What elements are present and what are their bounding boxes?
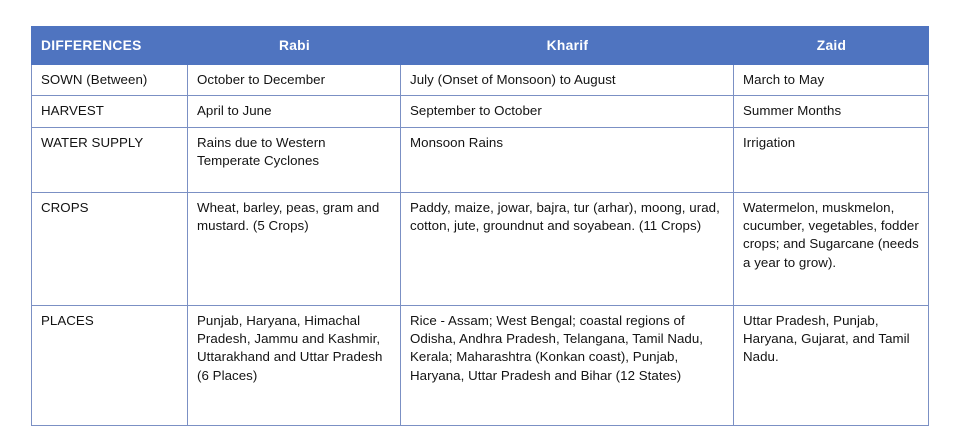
crop-comparison-table: DIFFERENCES Rabi Kharif Zaid SOWN (Betwe… bbox=[31, 26, 929, 426]
cell-text: September to October bbox=[410, 102, 725, 120]
table-header: DIFFERENCES Rabi Kharif Zaid bbox=[32, 27, 929, 65]
table-row-crops: CROPS Wheat, barley, peas, gram and must… bbox=[32, 192, 929, 305]
cell-text: HARVEST bbox=[41, 102, 179, 120]
cell-places-rabi: Punjab, Haryana, Himachal Pradesh, Jammu… bbox=[188, 305, 401, 425]
table-row-water-supply: WATER SUPPLY Rains due to Western Temper… bbox=[32, 127, 929, 192]
cell-text: Watermelon, muskmelon, cucumber, vegetab… bbox=[743, 199, 920, 272]
table-row-sown: SOWN (Between) October to December July … bbox=[32, 65, 929, 96]
header-row: DIFFERENCES Rabi Kharif Zaid bbox=[32, 27, 929, 65]
cell-harvest-kharif: September to October bbox=[401, 96, 734, 127]
row-label-places: PLACES bbox=[32, 305, 188, 425]
row-label-harvest: HARVEST bbox=[32, 96, 188, 127]
column-header-differences: DIFFERENCES bbox=[32, 27, 188, 65]
cell-text: Monsoon Rains bbox=[410, 134, 725, 152]
cell-text: July (Onset of Monsoon) to August bbox=[410, 71, 725, 89]
cell-text: WATER SUPPLY bbox=[41, 134, 179, 152]
cell-crops-kharif: Paddy, maize, jowar, bajra, tur (arhar),… bbox=[401, 192, 734, 305]
cell-crops-rabi: Wheat, barley, peas, gram and mustard. (… bbox=[188, 192, 401, 305]
cell-text: Summer Months bbox=[743, 102, 920, 120]
cell-text: Rains due to Western Temperate Cyclones bbox=[197, 134, 392, 171]
cell-water-rabi: Rains due to Western Temperate Cyclones bbox=[188, 127, 401, 192]
cell-text: CROPS bbox=[41, 199, 179, 217]
cell-sown-zaid: March to May bbox=[734, 65, 929, 96]
cell-places-kharif: Rice - Assam; West Bengal; coastal regio… bbox=[401, 305, 734, 425]
cell-text: Paddy, maize, jowar, bajra, tur (arhar),… bbox=[410, 199, 725, 236]
row-label-sown: SOWN (Between) bbox=[32, 65, 188, 96]
cell-text: October to December bbox=[197, 71, 392, 89]
cell-text: Punjab, Haryana, Himachal Pradesh, Jammu… bbox=[197, 312, 392, 385]
cell-places-zaid: Uttar Pradesh, Punjab, Haryana, Gujarat,… bbox=[734, 305, 929, 425]
cell-crops-zaid: Watermelon, muskmelon, cucumber, vegetab… bbox=[734, 192, 929, 305]
cell-water-zaid: Irrigation bbox=[734, 127, 929, 192]
table-row-harvest: HARVEST April to June September to Octob… bbox=[32, 96, 929, 127]
cell-water-kharif: Monsoon Rains bbox=[401, 127, 734, 192]
cell-text: PLACES bbox=[41, 312, 179, 330]
row-label-crops: CROPS bbox=[32, 192, 188, 305]
cell-text: Wheat, barley, peas, gram and mustard. (… bbox=[197, 199, 392, 236]
row-label-water-supply: WATER SUPPLY bbox=[32, 127, 188, 192]
cell-text: April to June bbox=[197, 102, 392, 120]
column-header-zaid: Zaid bbox=[734, 27, 929, 65]
cell-text: Uttar Pradesh, Punjab, Haryana, Gujarat,… bbox=[743, 312, 920, 367]
cell-harvest-zaid: Summer Months bbox=[734, 96, 929, 127]
cell-text: March to May bbox=[743, 71, 920, 89]
cell-text: Rice - Assam; West Bengal; coastal regio… bbox=[410, 312, 725, 385]
cell-sown-rabi: October to December bbox=[188, 65, 401, 96]
cell-text: SOWN (Between) bbox=[41, 71, 179, 89]
cell-sown-kharif: July (Onset of Monsoon) to August bbox=[401, 65, 734, 96]
cell-text: Irrigation bbox=[743, 134, 920, 152]
table-row-places: PLACES Punjab, Haryana, Himachal Pradesh… bbox=[32, 305, 929, 425]
cell-harvest-rabi: April to June bbox=[188, 96, 401, 127]
column-header-rabi: Rabi bbox=[188, 27, 401, 65]
table-body: SOWN (Between) October to December July … bbox=[32, 65, 929, 426]
column-header-kharif: Kharif bbox=[401, 27, 734, 65]
page-canvas: DIFFERENCES Rabi Kharif Zaid SOWN (Betwe… bbox=[0, 0, 960, 448]
